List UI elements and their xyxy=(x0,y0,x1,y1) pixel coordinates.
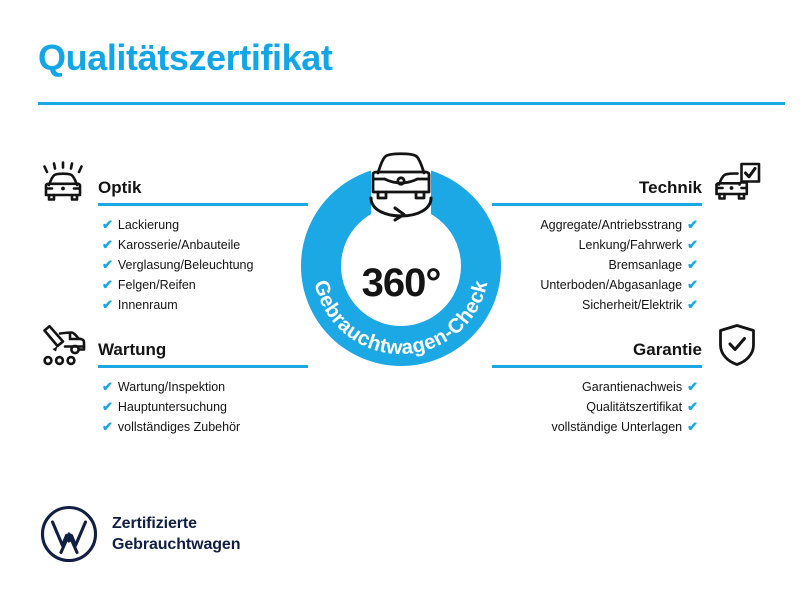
title-divider xyxy=(38,102,785,105)
list-item-label: Innenraum xyxy=(118,296,178,315)
vw-footer-line2: Gebrauchtwagen xyxy=(112,534,240,555)
list-item: ✔Bremsanlage xyxy=(492,255,764,275)
list-item: ✔Karosserie/Anbauteile xyxy=(36,235,308,255)
list-item: ✔Qualitätszertifikat xyxy=(492,397,764,417)
list-item: ✔Verglasung/Beleuchtung xyxy=(36,255,308,275)
check-icon: ✔ xyxy=(687,215,698,234)
list-item: ✔Sicherheit/Elektrik xyxy=(492,295,764,315)
list-item-label: vollständige Unterlagen xyxy=(551,418,682,437)
check-icon: ✔ xyxy=(102,417,113,436)
check-icon: ✔ xyxy=(102,275,113,294)
section-wartung-underline xyxy=(98,365,308,368)
section-garantie-list: ✔Garantienachweis ✔Qualitätszertifikat ✔… xyxy=(492,377,764,437)
list-item: ✔Wartung/Inspektion xyxy=(36,377,308,397)
section-garantie: Garantie ✔Garantienachweis ✔Qualitätszer… xyxy=(492,322,764,437)
list-item-label: Wartung/Inspektion xyxy=(118,378,225,397)
list-item-label: Bremsanlage xyxy=(608,256,682,275)
section-wartung-list: ✔Wartung/Inspektion ✔Hauptuntersuchung ✔… xyxy=(36,377,308,437)
list-item: ✔Garantienachweis xyxy=(492,377,764,397)
section-optik-underline xyxy=(98,203,308,206)
check-icon: ✔ xyxy=(687,417,698,436)
section-wartung-header: Wartung xyxy=(36,322,308,368)
check-icon: ✔ xyxy=(687,255,698,274)
section-optik-title: Optik xyxy=(98,179,308,203)
volkswagen-logo xyxy=(40,505,98,563)
certificate-page: Qualitätszertifikat xyxy=(0,0,800,600)
list-item-label: Lenkung/Fahrwerk xyxy=(579,236,683,255)
list-item: ✔vollständiges Zubehör xyxy=(36,417,308,437)
section-technik-list: ✔Aggregate/Antriebsstrang ✔Lenkung/Fahrw… xyxy=(492,215,764,315)
vw-footer-text: Zertifizierte Gebrauchtwagen xyxy=(112,513,240,555)
list-item-label: Unterboden/Abgasanlage xyxy=(540,276,682,295)
list-item-label: Verglasung/Beleuchtung xyxy=(118,256,254,275)
check-icon: ✔ xyxy=(102,215,113,234)
list-item-label: Sicherheit/Elektrik xyxy=(582,296,682,315)
list-item-label: Felgen/Reifen xyxy=(118,276,196,295)
check-icon: ✔ xyxy=(687,235,698,254)
list-item-label: Garantienachweis xyxy=(582,378,682,397)
list-item: ✔Innenraum xyxy=(36,295,308,315)
section-wartung: Wartung ✔Wartung/Inspektion ✔Hauptunters… xyxy=(36,322,308,437)
section-garantie-underline xyxy=(492,365,702,368)
check-icon: ✔ xyxy=(687,377,698,396)
360-check-badge: Gebrauchtwagen-Check 360° xyxy=(285,150,517,382)
check-icon: ✔ xyxy=(102,235,113,254)
section-optik: Optik ✔Lackierung ✔Karosserie/Anbauteile… xyxy=(36,160,308,315)
car-shine-icon xyxy=(36,160,90,206)
section-garantie-header: Garantie xyxy=(492,322,764,368)
check-icon: ✔ xyxy=(102,377,113,396)
check-icon: ✔ xyxy=(102,397,113,416)
list-item-label: vollständiges Zubehör xyxy=(118,418,240,437)
section-technik-underline xyxy=(492,203,702,206)
check-icon: ✔ xyxy=(687,275,698,294)
list-item: ✔Unterboden/Abgasanlage xyxy=(492,275,764,295)
list-item: ✔Lackierung xyxy=(36,215,308,235)
check-icon: ✔ xyxy=(102,255,113,274)
check-icon: ✔ xyxy=(687,295,698,314)
vw-footer-line1: Zertifizierte xyxy=(112,513,240,534)
vw-footer: Zertifizierte Gebrauchtwagen xyxy=(40,505,240,563)
list-item: ✔Felgen/Reifen xyxy=(36,275,308,295)
section-garantie-title: Garantie xyxy=(492,341,702,365)
list-item-label: Karosserie/Anbauteile xyxy=(118,236,240,255)
list-item-label: Aggregate/Antriebsstrang xyxy=(540,216,682,235)
section-optik-header: Optik xyxy=(36,160,308,206)
service-pen-car-icon xyxy=(36,322,90,368)
car-rotate-icon xyxy=(351,146,451,222)
section-technik-title: Technik xyxy=(492,179,702,203)
page-title: Qualitätszertifikat xyxy=(38,38,332,78)
list-item: ✔Hauptuntersuchung xyxy=(36,397,308,417)
list-item: ✔Lenkung/Fahrwerk xyxy=(492,235,764,255)
section-technik: Technik ✔Aggregate/Antriebsstrang ✔Lenku… xyxy=(492,160,764,315)
check-icon: ✔ xyxy=(687,397,698,416)
list-item-label: Hauptuntersuchung xyxy=(118,398,227,417)
list-item: ✔Aggregate/Antriebsstrang xyxy=(492,215,764,235)
check-icon: ✔ xyxy=(102,295,113,314)
section-technik-header: Technik xyxy=(492,160,764,206)
list-item-label: Lackierung xyxy=(118,216,179,235)
list-item: ✔vollständige Unterlagen xyxy=(492,417,764,437)
list-item-label: Qualitätszertifikat xyxy=(586,398,682,417)
section-optik-list: ✔Lackierung ✔Karosserie/Anbauteile ✔Verg… xyxy=(36,215,308,315)
car-checkbox-icon xyxy=(710,160,764,206)
section-wartung-title: Wartung xyxy=(98,341,308,365)
shield-check-icon xyxy=(710,322,764,368)
